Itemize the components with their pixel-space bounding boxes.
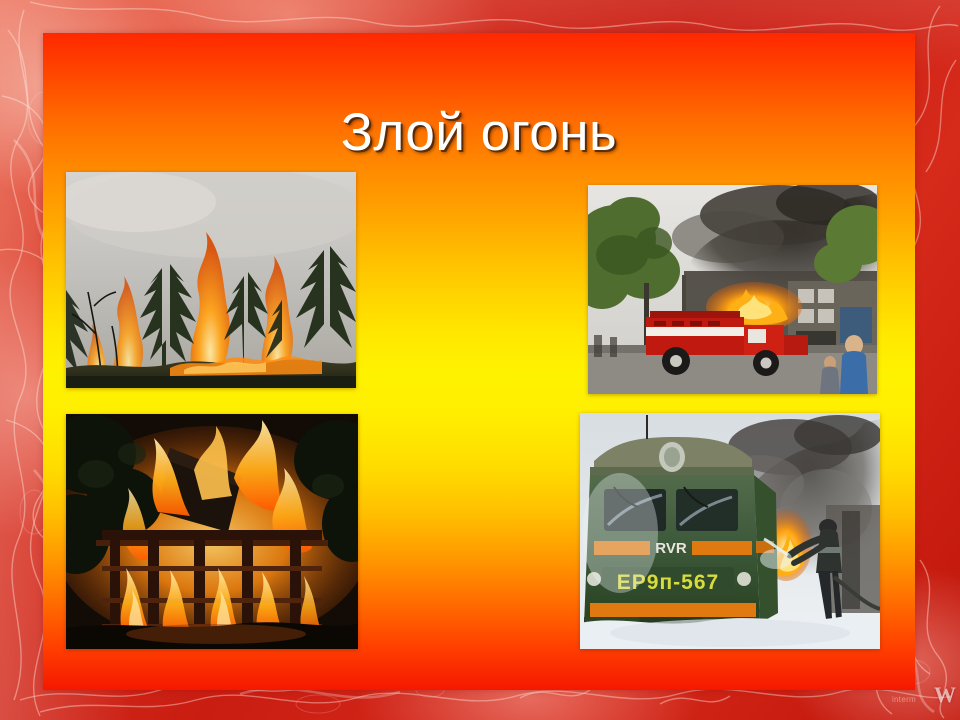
page-title: Злой огонь <box>43 106 915 159</box>
train-logo-text: RVR <box>655 540 687 557</box>
slide-canvas: Злой огонь <box>0 0 960 720</box>
photo-building-fire <box>588 185 877 394</box>
photo-house-fire <box>66 414 358 649</box>
content-panel: Злой огонь <box>43 33 915 690</box>
watermark-sub-text: interm <box>892 695 916 704</box>
watermark-logo: W <box>934 682 954 708</box>
photo-forest-fire <box>66 172 356 388</box>
photo-train-fire: RVR ЕР9п-567 <box>580 413 880 649</box>
